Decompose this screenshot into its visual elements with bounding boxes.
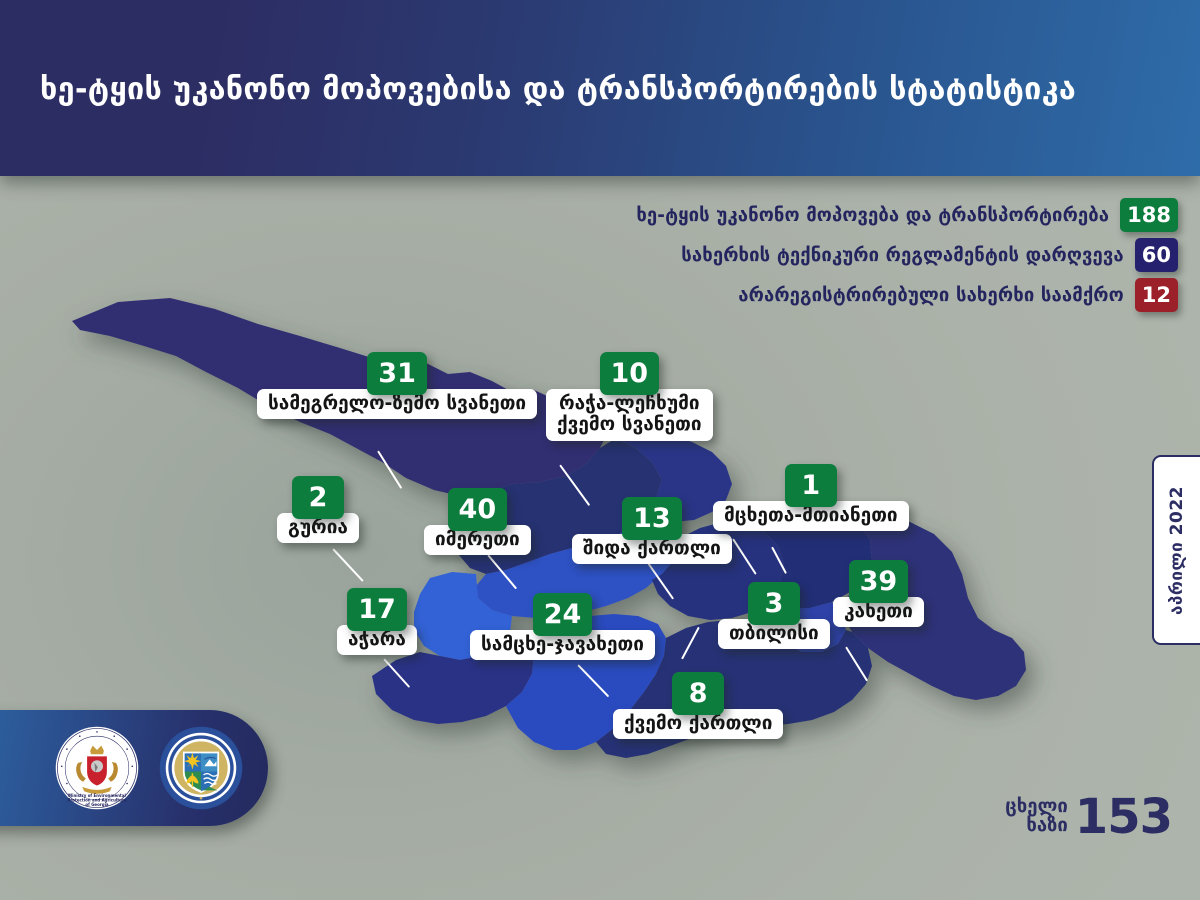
region-value-badge: 10 (600, 352, 660, 395)
region-callout-mtskheta: 1 მცხეთა-მთიანეთი (713, 464, 909, 531)
region-value-badge: 8 (672, 672, 724, 715)
ministry-emblem-icon: Ministry of Environmental Protection and… (54, 725, 140, 811)
legend-item-value: 12 (1135, 278, 1178, 312)
region-value-badge: 13 (622, 497, 682, 540)
region-callout-samtskhe: 24 სამცხე-ჯავახეთი (470, 593, 655, 660)
svg-text:of Georgia: of Georgia (85, 802, 109, 807)
region-callout-samegrelo: 31 სამეგრელო-ზემო სვანეთი (257, 352, 537, 419)
logo-pill: Ministry of Environmental Protection and… (0, 710, 268, 826)
region-callout-imereti: 40 იმერეთი (424, 488, 531, 555)
region-callout-kakheti: 39 კახეთი (833, 560, 924, 627)
region-value-badge: 1 (785, 464, 837, 507)
legend: ხე-ტყის უკანონო მოპოვება და ტრანსპორტირე… (636, 198, 1178, 312)
legend-item-label: ხე-ტყის უკანონო მოპოვება და ტრანსპორტირე… (636, 205, 1109, 226)
infographic-root: ხე-ტყის უკანონო მოპოვებისა და ტრანსპორტი… (0, 0, 1200, 900)
region-callout-tbilisi: 3 თბილისი (718, 582, 830, 649)
hotline: ცხელი ხაზი 153 (1005, 796, 1172, 838)
region-callout-adjara: 17 აჭარა (337, 588, 417, 655)
legend-item-value: 188 (1120, 198, 1178, 232)
legend-item: ხე-ტყის უკანონო მოპოვება და ტრანსპორტირე… (636, 198, 1178, 232)
region-value-badge: 40 (448, 488, 508, 531)
region-name-label: რაჭა-ლეჩხუმი ქვემო სვანეთი (546, 389, 713, 441)
legend-item-label: სახერხის ტექნიკური რეგლამენტის დარღვევა (681, 245, 1123, 266)
legend-item-label: არარეგისტრირებული სახერხი საამქრო (738, 285, 1123, 306)
date-tab: აპრილი 2022 (1152, 455, 1200, 645)
region-callout-kvemo-kartli: 8 ქვემო ქართლი (613, 672, 783, 739)
region-value-badge: 31 (367, 352, 427, 395)
region-callout-guria: 2 გურია (277, 476, 359, 543)
region-value-badge: 3 (748, 582, 800, 625)
department-emblem-icon (158, 725, 244, 811)
date-tab-label: აპრილი 2022 (1167, 486, 1187, 615)
region-callout-shida-kartli: 13 შიდა ქართლი (572, 497, 732, 564)
region-value-badge: 24 (533, 593, 593, 636)
page-title: ხე-ტყის უკანონო მოპოვებისა და ტრანსპორტი… (40, 72, 1076, 107)
region-value-badge: 17 (347, 588, 407, 631)
hotline-number: 153 (1075, 796, 1172, 838)
region-callout-racha: 10 რაჭა-ლეჩხუმი ქვემო სვანეთი (546, 352, 713, 441)
hotline-label: ცხელი ხაზი (1005, 798, 1068, 835)
header-banner: ხე-ტყის უკანონო მოპოვებისა და ტრანსპორტი… (0, 0, 1200, 176)
legend-item: არარეგისტრირებული სახერხი საამქრო 12 (738, 278, 1178, 312)
legend-item: სახერხის ტექნიკური რეგლამენტის დარღვევა … (681, 238, 1178, 272)
region-value-badge: 39 (849, 560, 909, 603)
region-value-badge: 2 (292, 476, 344, 519)
legend-item-value: 60 (1135, 238, 1178, 272)
